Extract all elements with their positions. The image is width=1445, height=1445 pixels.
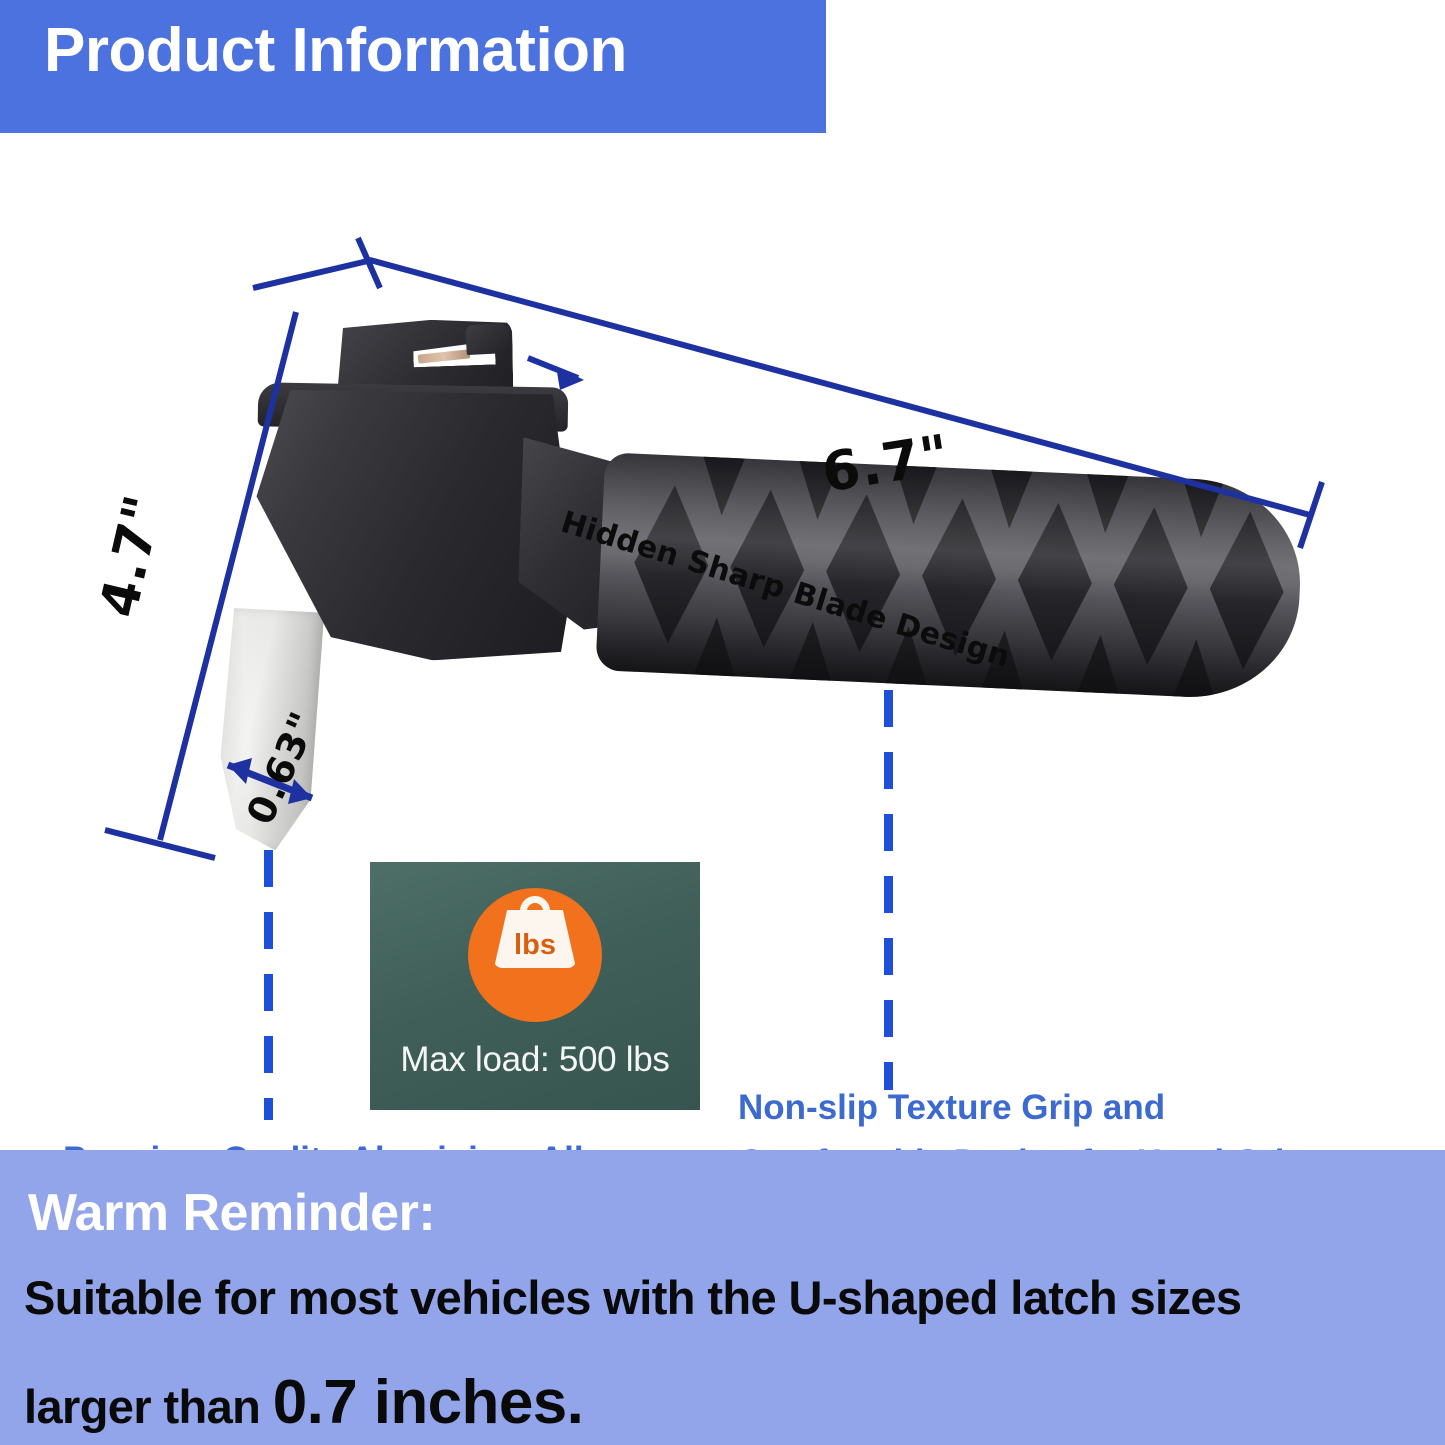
weight-icon: lbs [494,896,576,968]
blade-callout-arrowhead [556,366,584,390]
page-title: Product Information [44,20,627,82]
grip-leader-line [884,690,893,1090]
warm-reminder-title: Warm Reminder: [28,1183,435,1243]
max-load-caption: Max load: 500 lbs [370,1040,700,1080]
warm-reminder-line-1: Suitable for most vehicles with the U-sh… [24,1270,1241,1325]
product-information-infographic: Product Information [0,0,1445,1445]
weight-icon-label: lbs [494,929,576,962]
weight-body: lbs [494,910,576,968]
aluminium-leader-line [264,850,273,1120]
warm-reminder-line-2: larger than 0.7 inches. [24,1372,583,1434]
max-load-card: lbs Max load: 500 lbs [370,862,700,1110]
header-banner: Product Information [0,0,826,133]
grip-feature-caption-line1: Non-slip Texture Grip and [738,1088,1165,1128]
length-extension-left [253,260,372,288]
tip-width-arrowhead-left [228,758,252,784]
warm-reminder-line-2-prefix: larger than [24,1380,273,1433]
product-photo-stage: 6.7" 4.7" 0.63" Hidden Sharp Blade Desig… [0,140,1445,1140]
warm-reminder-panel: Warm Reminder: Suitable for most vehicle… [0,1150,1445,1445]
dimension-overlay [0,140,1445,1140]
warm-reminder-size-emphasis: 0.7 inches. [273,1368,583,1437]
